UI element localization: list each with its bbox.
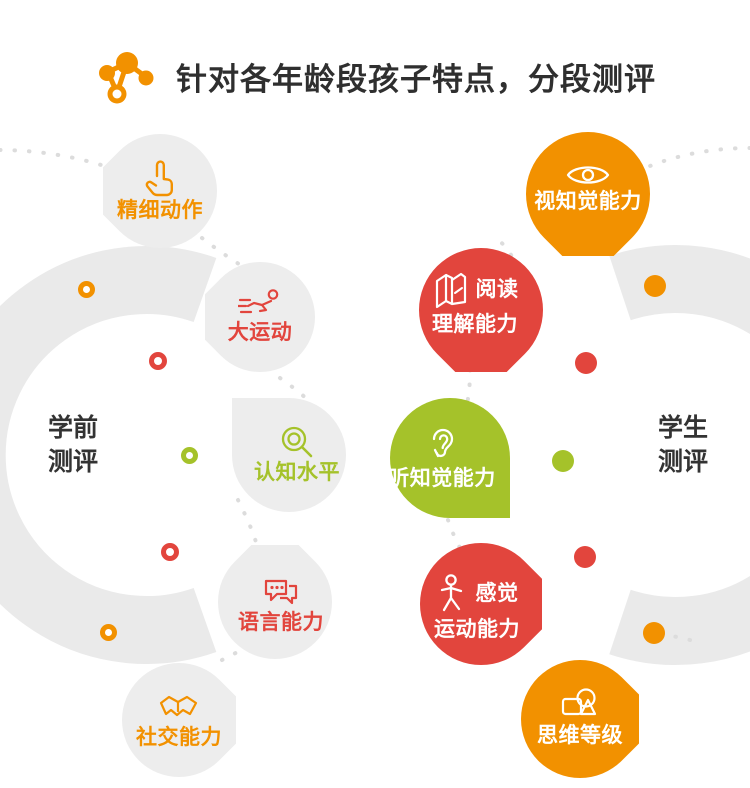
dot-left-2 [149,352,167,370]
card-label-language: 语言能力 [238,611,324,635]
sensory-motor-icon-row: 感觉 [436,574,519,614]
walking-person-icon [436,574,468,614]
card-reading[interactable]: 阅读 理解能力 [419,248,543,372]
card-label-reading-line1: 阅读 [476,278,519,302]
card-label-sensory-motor-line1: 感觉 [476,582,519,606]
card-label-auditory: 听知觉能力 [388,467,496,491]
dot-right-2 [575,352,597,374]
dot-left-3 [181,447,198,464]
card-cognition[interactable]: 认知水平 [232,398,346,512]
dot-left-1 [78,281,95,298]
dot-right-4 [574,546,596,568]
card-label-reading-line2: 理解能力 [432,313,518,337]
books-icon [432,271,468,309]
magnifier-icon [280,425,314,459]
card-label-thinking-level: 思维等级 [537,724,623,748]
card-label-gross-motor: 大运动 [228,321,293,345]
card-fine-motor[interactable]: 精细动作 [103,134,217,248]
card-label-sensory-motor-line2: 运动能力 [434,618,520,642]
card-thinking-level[interactable]: 思维等级 [521,660,639,778]
eye-icon [565,162,611,188]
card-auditory[interactable]: 听知觉能力 [390,398,510,518]
card-sensory-motor[interactable]: 感觉 运动能力 [420,543,542,665]
dot-left-4 [161,543,179,561]
center-label-preschool: 学前 测评 [30,412,116,480]
card-social[interactable]: 社交能力 [122,663,236,777]
center-label-student: 学生 测评 [640,412,726,480]
card-label-fine-motor: 精细动作 [117,199,203,223]
card-gross-motor[interactable]: 大运动 [205,262,315,372]
handshake-icon [158,694,200,724]
card-label-social: 社交能力 [136,726,222,750]
reading-icon-row: 阅读 [432,271,519,309]
dot-right-1 [644,275,666,297]
card-label-visual-perception: 视知觉能力 [534,190,642,214]
pointing-hand-icon [142,159,178,197]
running-person-icon [238,289,282,319]
card-label-cognition: 认知水平 [254,461,340,485]
infographic-canvas: 针对各年龄段孩子特点，分段测评 学前 测评 学生 测评 [0,0,750,788]
ear-icon [426,425,458,465]
card-language[interactable]: 语言能力 [218,545,332,659]
dot-right-3 [552,450,574,472]
dot-left-5 [100,624,117,641]
dot-right-5 [643,622,665,644]
speech-bubble-icon [262,577,300,609]
card-visual-perception[interactable]: 视知觉能力 [526,132,650,256]
shapes-icon [560,686,600,722]
